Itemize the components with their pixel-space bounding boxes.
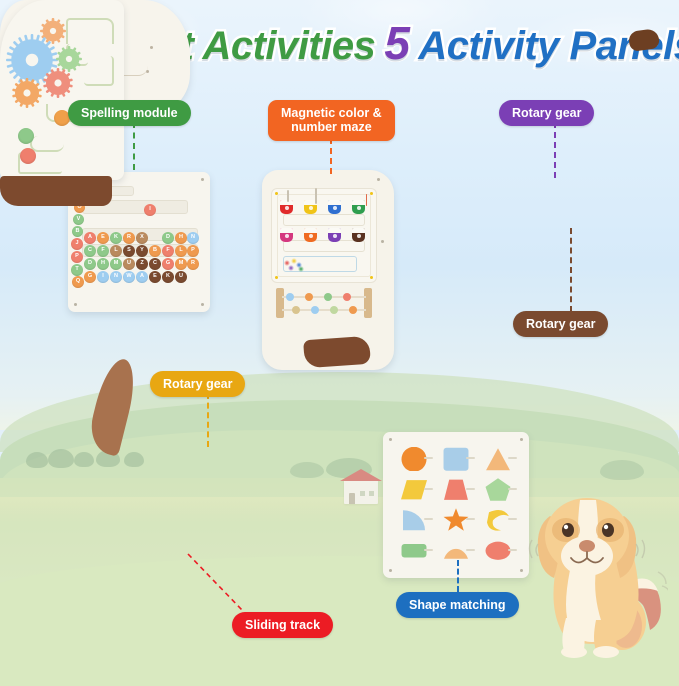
letter-bead[interactable]: A bbox=[84, 232, 96, 244]
letter-bead[interactable]: A bbox=[136, 271, 148, 283]
leader-rotary-gear-nose bbox=[570, 228, 572, 312]
letter-bead[interactable]: Y bbox=[136, 245, 148, 257]
quarter-circle-icon bbox=[401, 508, 427, 532]
letter-bead[interactable]: S bbox=[123, 245, 135, 257]
wooden-foot bbox=[303, 336, 371, 369]
magnet-bead-pile bbox=[283, 258, 305, 272]
panel-magnetic-maze[interactable] bbox=[262, 170, 394, 370]
screw-icon bbox=[275, 276, 278, 279]
shape-peg bbox=[508, 549, 517, 551]
screw-icon bbox=[377, 178, 380, 181]
letter-bead[interactable]: L bbox=[110, 245, 122, 257]
letter-bead[interactable]: K bbox=[110, 232, 122, 244]
leader-shape-matching bbox=[457, 560, 459, 592]
cup-bead bbox=[285, 234, 289, 238]
cup-rim bbox=[280, 228, 293, 233]
letter-bead[interactable]: W bbox=[123, 271, 135, 283]
cup-rim bbox=[328, 228, 341, 233]
sliding-track-path[interactable] bbox=[18, 168, 62, 174]
letter-bead[interactable]: Z bbox=[136, 258, 148, 270]
slider-knob[interactable] bbox=[20, 148, 36, 164]
shape-piece-star[interactable] bbox=[443, 508, 469, 532]
letter-bead[interactable]: F bbox=[97, 245, 109, 257]
shape-peg bbox=[424, 518, 433, 520]
letter-bead[interactable]: X bbox=[136, 232, 148, 244]
maze-color-cup[interactable] bbox=[304, 228, 317, 242]
semicircle-icon bbox=[443, 539, 469, 563]
leader-magnetic-maze bbox=[330, 138, 332, 174]
magnetic-stylus[interactable] bbox=[315, 188, 317, 204]
screw-icon bbox=[381, 240, 384, 243]
abacus-bead[interactable] bbox=[343, 293, 351, 301]
sliding-track-path[interactable] bbox=[66, 18, 114, 44]
shape-peg bbox=[466, 457, 475, 459]
maze-color-cup[interactable] bbox=[352, 228, 365, 242]
tree-icon bbox=[26, 452, 48, 468]
screw-icon bbox=[520, 438, 523, 441]
letter-bead[interactable]: P bbox=[187, 245, 199, 257]
pentagon-icon bbox=[485, 478, 511, 502]
shape-piece-circle[interactable] bbox=[401, 447, 427, 471]
cup-bead bbox=[285, 206, 289, 210]
leader-spelling bbox=[133, 122, 135, 170]
leader-rotary-gear-tail bbox=[207, 393, 209, 447]
shape-peg bbox=[508, 518, 517, 520]
tree-icon bbox=[290, 462, 324, 478]
wooden-foot bbox=[0, 176, 112, 206]
abacus-bead[interactable] bbox=[324, 293, 332, 301]
sliding-track-path[interactable] bbox=[30, 136, 64, 152]
letter-bead[interactable]: F bbox=[162, 245, 174, 257]
letter-bead[interactable]: G bbox=[84, 271, 96, 283]
square-icon bbox=[443, 447, 469, 471]
screw-icon bbox=[74, 303, 77, 306]
abacus[interactable] bbox=[276, 288, 372, 318]
shape-grid[interactable] bbox=[393, 444, 519, 566]
letter-bead[interactable]: D bbox=[84, 258, 96, 270]
letter-bead[interactable]: U bbox=[175, 271, 187, 283]
letter-bead[interactable]: K bbox=[162, 271, 174, 283]
house-window bbox=[360, 491, 365, 496]
shape-piece-oval[interactable] bbox=[485, 539, 511, 563]
shape-piece-semicircle[interactable] bbox=[443, 539, 469, 563]
trapezoid-icon bbox=[443, 478, 469, 502]
magnetic-stylus[interactable] bbox=[287, 190, 289, 202]
cup-rim bbox=[352, 200, 365, 205]
abacus-bead[interactable] bbox=[311, 306, 319, 314]
screw-icon bbox=[275, 192, 278, 195]
sliding-track-path[interactable] bbox=[84, 56, 114, 86]
screw-icon bbox=[201, 303, 204, 306]
cup-bead bbox=[357, 234, 361, 238]
cartoon-dog-illustration bbox=[518, 486, 668, 661]
shape-peg bbox=[508, 457, 517, 459]
abacus-post bbox=[276, 288, 284, 318]
shape-piece-parallelogram[interactable] bbox=[401, 478, 427, 502]
letter-bead[interactable]: J bbox=[71, 238, 83, 250]
badge-sliding-track[interactable]: Sliding track bbox=[232, 612, 333, 638]
abacus-bead[interactable] bbox=[286, 293, 294, 301]
letter-bead[interactable]: P bbox=[71, 251, 83, 263]
abacus-bead[interactable] bbox=[305, 293, 313, 301]
letter-bead[interactable]: E bbox=[97, 232, 109, 244]
house-door bbox=[349, 493, 355, 504]
letter-bead[interactable]: N bbox=[187, 232, 199, 244]
triangle-icon bbox=[485, 447, 511, 471]
letter-bead[interactable]: L bbox=[175, 245, 187, 257]
gear-icon[interactable] bbox=[12, 78, 42, 108]
letter-bead[interactable]: E bbox=[149, 271, 161, 283]
letter-bead[interactable]: M bbox=[175, 258, 187, 270]
screw-icon bbox=[201, 178, 204, 181]
screw-icon bbox=[389, 438, 392, 441]
badge-rotary-gear-tail[interactable]: Rotary gear bbox=[150, 371, 245, 397]
shape-piece-rectangle[interactable] bbox=[401, 539, 427, 563]
leader-sliding-track bbox=[186, 552, 246, 614]
tree-icon bbox=[600, 460, 644, 480]
letter-bead[interactable]: C bbox=[149, 258, 161, 270]
badge-rotary-gear-nose[interactable]: Rotary gear bbox=[513, 311, 608, 337]
letter-bead[interactable]: Q bbox=[72, 276, 84, 288]
maze-color-cup[interactable] bbox=[352, 200, 365, 214]
shape-peg bbox=[424, 457, 433, 459]
house-icon bbox=[344, 480, 378, 504]
letter-bead[interactable]: T bbox=[71, 264, 83, 276]
star-icon bbox=[443, 508, 469, 532]
magnetic-stylus[interactable] bbox=[366, 194, 368, 206]
letter-bead[interactable]: H bbox=[175, 232, 187, 244]
shape-piece-crescent[interactable] bbox=[485, 508, 511, 532]
title-count-panels: 5 bbox=[384, 16, 409, 70]
cup-rim bbox=[328, 200, 341, 205]
slider-knob[interactable] bbox=[18, 128, 34, 144]
cup-bead bbox=[333, 206, 337, 210]
shape-piece-triangle[interactable] bbox=[485, 447, 511, 471]
maze-track bbox=[283, 214, 365, 226]
rectangle-icon bbox=[401, 539, 427, 563]
cup-rim bbox=[304, 228, 317, 233]
letter-bead[interactable]: B bbox=[149, 245, 161, 257]
shape-peg bbox=[424, 549, 433, 551]
maze-board[interactable] bbox=[271, 188, 377, 283]
cup-bead bbox=[333, 234, 337, 238]
shape-piece-trapezoid[interactable] bbox=[443, 478, 469, 502]
screw-icon bbox=[370, 192, 373, 195]
house-window bbox=[369, 491, 374, 496]
gears-board[interactable] bbox=[0, 0, 124, 180]
letter-bead[interactable]: I bbox=[144, 204, 156, 216]
leader-rotary-gear-head bbox=[554, 122, 556, 178]
shape-peg bbox=[466, 549, 475, 551]
screw-icon bbox=[389, 569, 392, 572]
cup-bead bbox=[357, 206, 361, 210]
letter-bead[interactable]: I bbox=[97, 271, 109, 283]
cup-rim bbox=[352, 228, 365, 233]
shape-peg bbox=[424, 488, 433, 490]
maze-color-cup[interactable] bbox=[280, 228, 293, 242]
tree-icon bbox=[74, 452, 94, 467]
oval-icon bbox=[485, 539, 511, 563]
cup-bead bbox=[309, 234, 313, 238]
shape-peg bbox=[466, 518, 475, 520]
letter-bead[interactable]: C bbox=[84, 245, 96, 257]
letter-bead[interactable]: R bbox=[187, 258, 199, 270]
shape-peg bbox=[466, 488, 475, 490]
letter-bead[interactable]: H bbox=[97, 258, 109, 270]
letter-bead[interactable]: G bbox=[162, 258, 174, 270]
letter-bead[interactable]: N bbox=[110, 271, 122, 283]
letter-bead[interactable]: U bbox=[123, 258, 135, 270]
letter-bead[interactable]: V bbox=[73, 214, 84, 225]
parallelogram-icon bbox=[401, 478, 427, 502]
shape-piece-quarter-circle[interactable] bbox=[401, 508, 427, 532]
gear-icon[interactable] bbox=[43, 68, 73, 98]
badge-shape-matching[interactable]: Shape matching bbox=[396, 592, 519, 618]
abacus-post bbox=[364, 288, 372, 318]
circle-icon bbox=[401, 447, 427, 471]
maze-color-cup[interactable] bbox=[328, 200, 341, 214]
tree-icon bbox=[48, 449, 74, 468]
badge-spelling-module[interactable]: Spelling module bbox=[68, 100, 191, 126]
shape-peg bbox=[508, 488, 517, 490]
tree-icon bbox=[124, 452, 144, 467]
eye-icon bbox=[150, 46, 153, 49]
abacus-bead[interactable] bbox=[330, 306, 338, 314]
shape-piece-pentagon[interactable] bbox=[485, 478, 511, 502]
badge-rotary-gear-head[interactable]: Rotary gear bbox=[499, 100, 594, 126]
crescent-icon bbox=[485, 508, 511, 532]
abacus-bead[interactable] bbox=[349, 306, 357, 314]
badge-magnetic-maze[interactable]: Magnetic color & number maze bbox=[268, 100, 395, 141]
letter-bead[interactable]: B bbox=[72, 226, 83, 237]
panel-shape-matching[interactable] bbox=[383, 432, 529, 578]
letter-bead[interactable]: M bbox=[110, 258, 122, 270]
abacus-bead[interactable] bbox=[292, 306, 300, 314]
maze-color-cup[interactable] bbox=[328, 228, 341, 242]
screw-icon bbox=[370, 276, 373, 279]
letter-bead[interactable]: D bbox=[162, 232, 174, 244]
maze-color-cup[interactable] bbox=[280, 200, 293, 214]
maze-track bbox=[283, 240, 365, 252]
shape-piece-square[interactable] bbox=[443, 447, 469, 471]
house-roof bbox=[340, 469, 382, 481]
cup-bead bbox=[309, 206, 313, 210]
letter-bead[interactable]: R bbox=[123, 232, 135, 244]
